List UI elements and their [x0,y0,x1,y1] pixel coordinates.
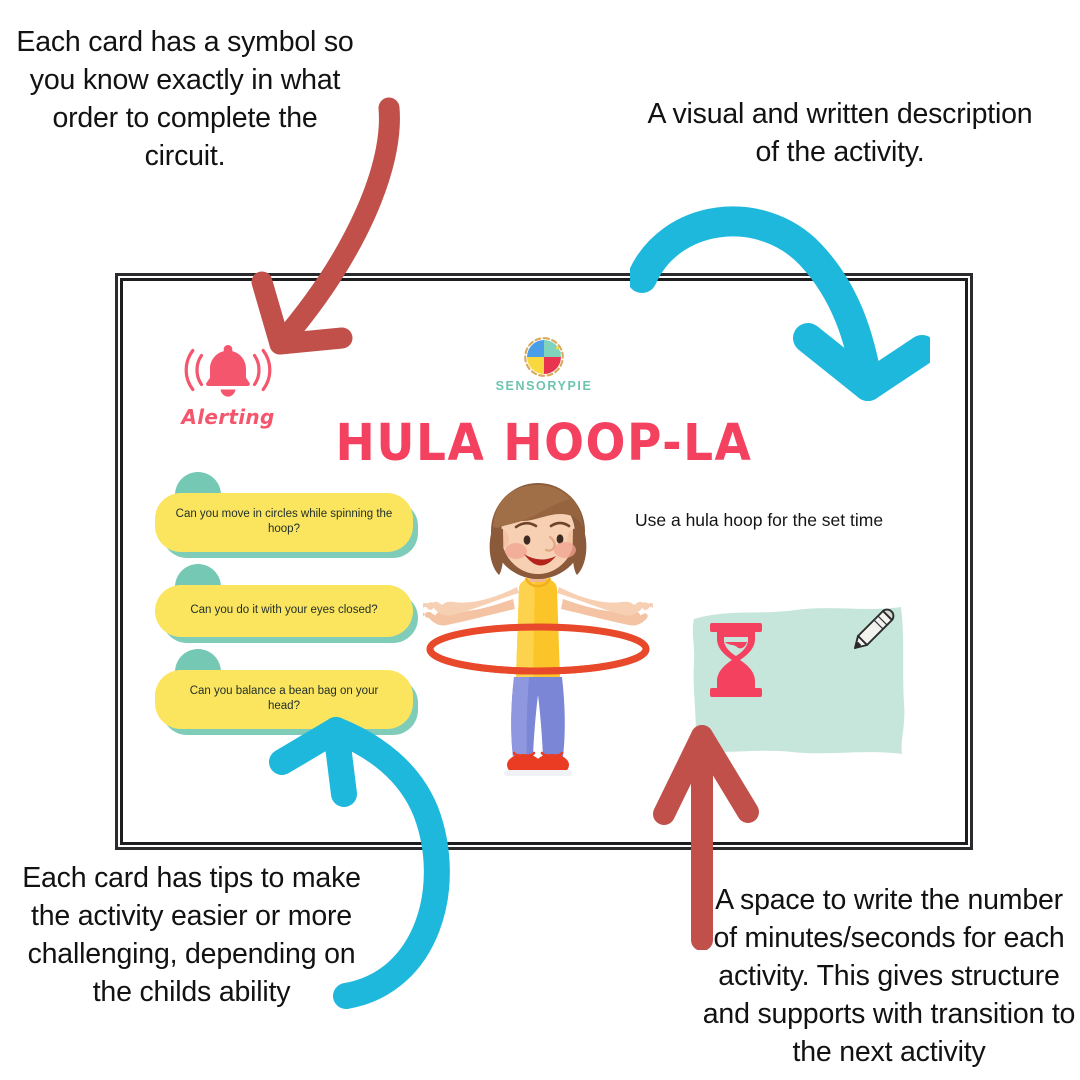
activity-description: Use a hula hoop for the set time [635,509,955,533]
tip-card[interactable]: Can you do it with your eyes closed? [155,585,413,637]
arrow-red-bottom-right [650,700,800,950]
arrow-blue-top-right [630,198,930,448]
pencil-icon [850,607,896,658]
tip-text: Can you move in circles while spinning t… [155,493,413,552]
annotation-top-right: A visual and written description of the … [645,96,1035,172]
arrow-blue-bottom-left [258,706,508,1026]
hourglass-icon [708,623,764,702]
tip-text: Can you do it with your eyes closed? [155,585,413,637]
tip-card[interactable]: Can you move in circles while spinning t… [155,493,413,552]
infographic-canvas: Each card has a symbol so you know exact… [0,0,1080,1080]
arrow-red-top-left [236,96,436,396]
